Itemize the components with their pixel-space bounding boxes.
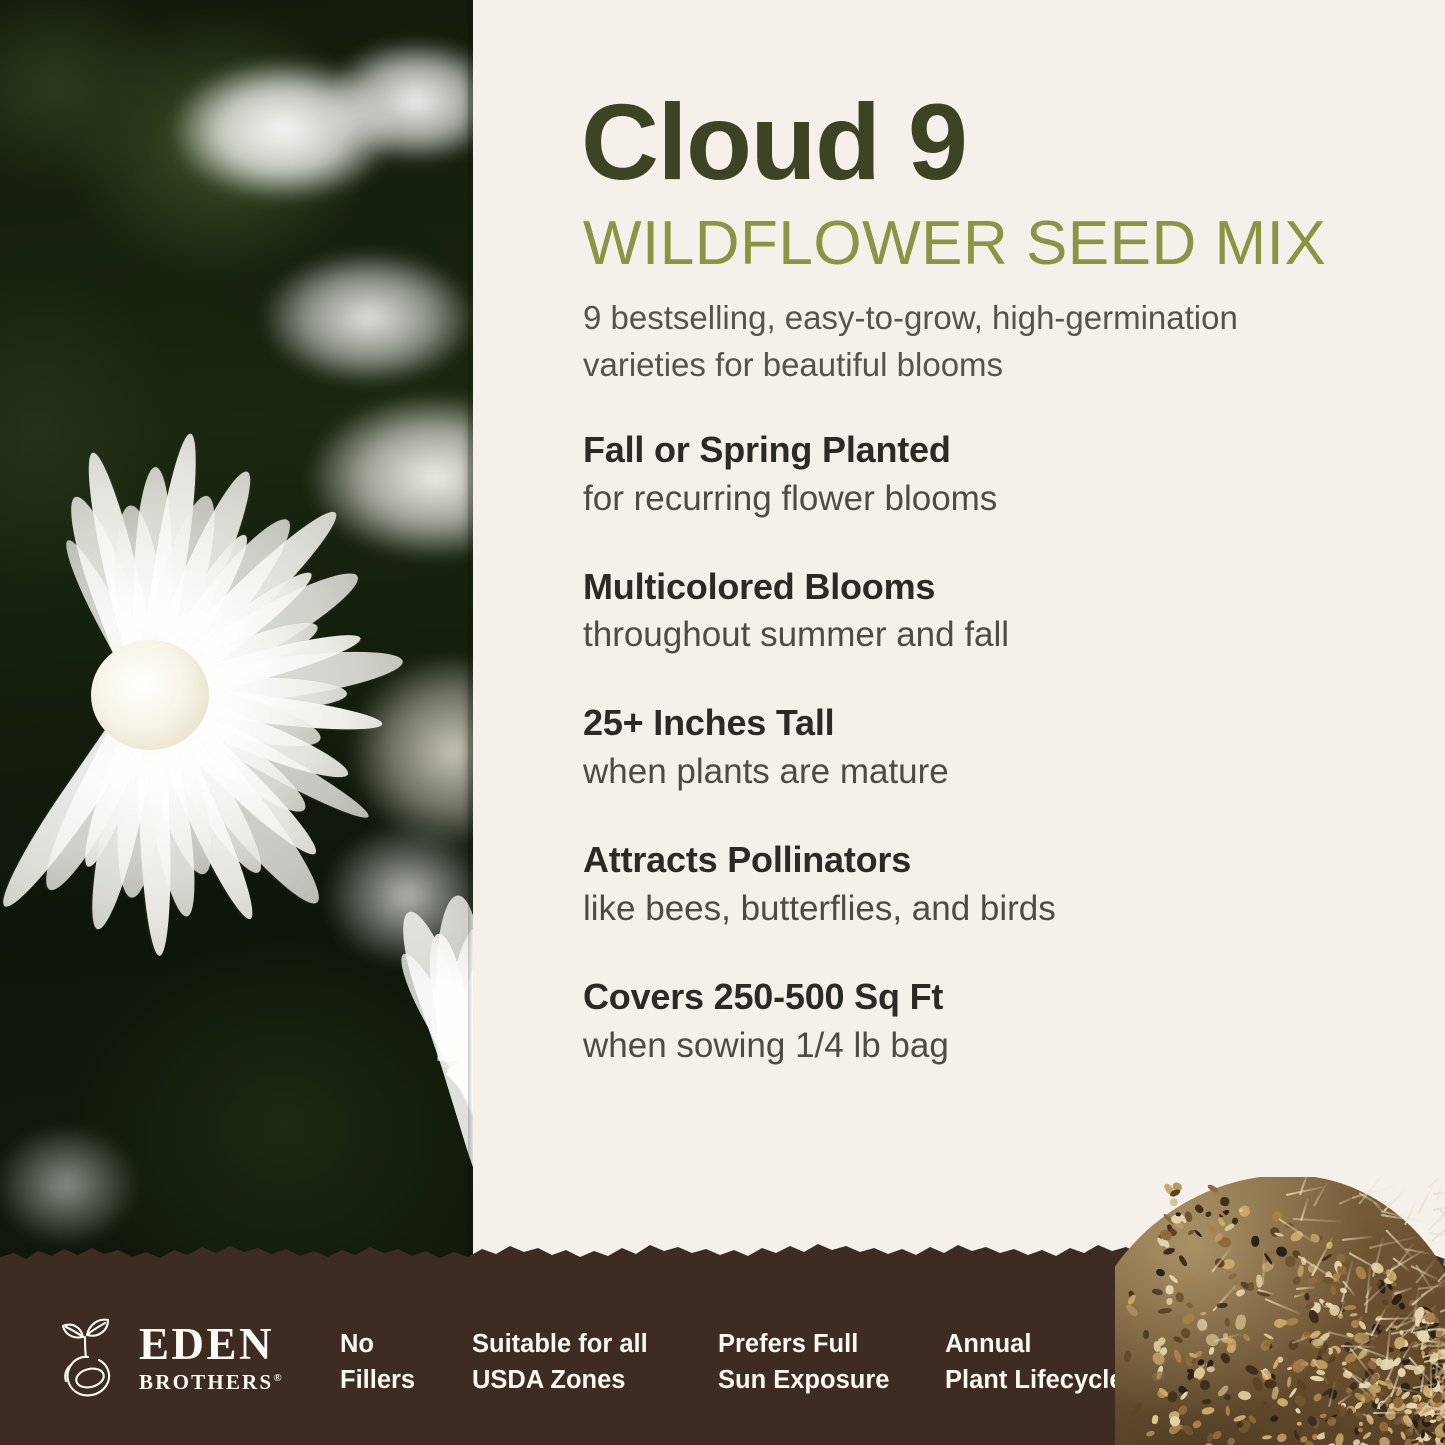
seed (1354, 1333, 1369, 1344)
seed (1143, 1330, 1149, 1339)
badge-line-2: Fillers (340, 1362, 415, 1398)
seed (1236, 1420, 1245, 1429)
seed (1217, 1303, 1228, 1309)
registered-mark: ® (273, 1372, 283, 1384)
badge-line-2: Plant Lifecycle (945, 1362, 1124, 1398)
product-title: Cloud 9 (581, 88, 966, 196)
feature-heading: Attracts Pollinators (583, 838, 1363, 883)
white-cornflower-bloom-photo (0, 0, 473, 1445)
footer-badge-usda-zones: Suitable for all USDA Zones (472, 1326, 648, 1398)
seed (1205, 1333, 1220, 1347)
seed (1152, 1288, 1164, 1296)
seed (1340, 1405, 1345, 1416)
seed (1251, 1376, 1265, 1393)
feature-heading: 25+ Inches Tall (583, 701, 1363, 746)
seed (1192, 1350, 1203, 1359)
seed (1125, 1303, 1140, 1318)
feature-heading: Fall or Spring Planted (583, 428, 1363, 473)
seed (1353, 1391, 1367, 1403)
secondary-white-flower (250, 880, 473, 1240)
seed (1235, 1288, 1246, 1297)
feature-item: Attracts Pollinators like bees, butterfl… (583, 838, 1363, 931)
badge-line-1: Annual (945, 1326, 1124, 1362)
seed (1124, 1316, 1133, 1325)
logo-brothers-text: BROTHERS (139, 1370, 273, 1394)
feature-list: Fall or Spring Planted for recurring flo… (583, 428, 1363, 1068)
seed (1151, 1370, 1165, 1382)
sprout-seedling-icon (52, 1313, 126, 1401)
seed (1185, 1302, 1194, 1309)
seed (1180, 1311, 1196, 1326)
logo-wordmark-eden: EDEN (139, 1322, 284, 1367)
feature-heading: Multicolored Blooms (583, 565, 1363, 610)
feature-detail: when plants are mature (583, 750, 1363, 794)
badge-line-2: Sun Exposure (718, 1362, 889, 1398)
badge-line-2: USDA Zones (472, 1362, 648, 1398)
feature-item: Covers 250-500 Sq Ft when sowing 1/4 lb … (583, 975, 1363, 1068)
feature-heading: Covers 250-500 Sq Ft (583, 975, 1363, 1020)
seed (1145, 1430, 1155, 1438)
product-subtitle: WILDFLOWER SEED MIX (583, 213, 1326, 275)
seed (1175, 1292, 1185, 1303)
feature-item: 25+ Inches Tall when plants are mature (583, 701, 1363, 794)
feature-detail: throughout summer and fall (583, 613, 1363, 657)
footer-badge-plant-lifecycle: Annual Plant Lifecycle (945, 1326, 1124, 1398)
seed (1348, 1381, 1359, 1391)
seed (1155, 1388, 1167, 1400)
product-infographic: Cloud 9 WILDFLOWER SEED MIX 9 bestsellin… (0, 0, 1445, 1445)
seed (1276, 1432, 1288, 1443)
seed (1130, 1402, 1144, 1418)
footer-badge-no-fillers: No Fillers (340, 1326, 415, 1398)
feature-detail: like bees, butterflies, and birds (583, 887, 1363, 931)
seed (1179, 1327, 1191, 1340)
badge-line-1: Prefers Full (718, 1326, 889, 1362)
seed (1322, 1347, 1329, 1355)
feature-detail: when sowing 1/4 lb bag (583, 1024, 1363, 1068)
badge-line-1: Suitable for all (472, 1326, 648, 1362)
feature-detail: for recurring flower blooms (583, 477, 1363, 521)
seed (1207, 1366, 1216, 1372)
feature-item: Multicolored Blooms throughout summer an… (583, 565, 1363, 658)
seed (1223, 1333, 1228, 1339)
flower-center (91, 640, 209, 750)
logo-wordmark-brothers: BROTHERS® (139, 1372, 284, 1393)
seed (1181, 1423, 1195, 1437)
seed (1197, 1319, 1207, 1331)
seed (1326, 1416, 1337, 1427)
scattered-seeds (1115, 1177, 1445, 1445)
product-deck: 9 bestselling, easy-to-grow, high-germin… (583, 295, 1323, 389)
seed (1234, 1314, 1247, 1331)
eden-brothers-logo[interactable]: EDEN BROTHERS® (52, 1313, 284, 1401)
badge-line-1: No (340, 1326, 415, 1362)
seed (1166, 1390, 1179, 1403)
footer-badge-sun-exposure: Prefers Full Sun Exposure (718, 1326, 889, 1398)
feature-item: Fall or Spring Planted for recurring flo… (583, 428, 1363, 521)
seed (1123, 1351, 1131, 1363)
seed (1290, 1356, 1308, 1375)
